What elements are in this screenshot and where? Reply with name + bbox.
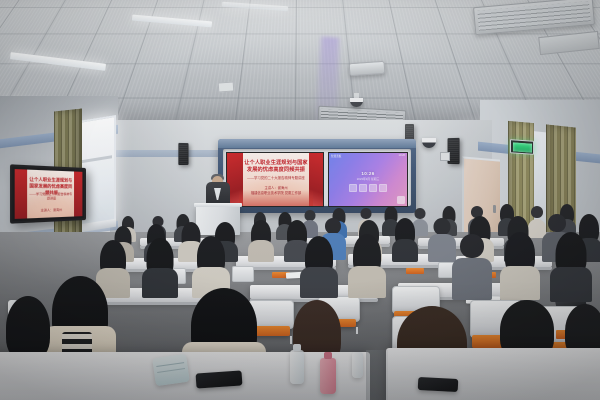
settings-icon[interactable] [397,196,405,204]
smart-board-dock[interactable] [349,184,387,192]
smart-board-status-left: 智慧黑板 [331,154,341,158]
whiteboard-icon[interactable] [349,184,357,192]
emergency-exit-sign-icon [510,139,534,155]
audience-person [142,238,178,298]
smart-board-status-bar: 智慧黑板 10:26 [329,153,407,158]
audience-person [392,218,418,262]
smartphone[interactable] [196,370,243,388]
water-bottle[interactable] [290,350,304,384]
face-mask[interactable] [152,354,190,386]
apps-icon[interactable] [379,184,387,192]
audience-person [452,234,492,300]
water-bottle[interactable] [352,352,363,378]
smart-board-screen[interactable]: 智慧黑板 10:26 10:26 2023年3月 星期三 [328,152,408,207]
slide-flag-left [15,169,27,219]
display-bank-frame: 让个人职业生涯规划与国家发展的忧虑高度同频共振 ——学习党的二十大报告精神专题讲… [218,139,416,213]
chair-back[interactable] [232,266,254,282]
smart-board-status-right: 10:26 [399,154,406,157]
wall-accent-stripe [110,150,220,157]
audience-person [248,220,274,262]
frame-top-accent [218,139,416,148]
door-handle[interactable] [493,205,496,213]
water-bottle[interactable] [320,358,336,394]
audience-person [500,232,540,300]
wall-speaker-icon [405,124,414,140]
wall-mounted-monitor[interactable]: 让个人职业生涯规划与国家发展的忧虑高度同频共振 ——学习党的二十大报告精神专题讲… [10,164,86,223]
slide-affiliation: 福建信息职业技术学院 党委工作部 [244,191,308,196]
table-seam [366,350,388,400]
chair-seat[interactable] [406,268,424,274]
browser-icon[interactable] [359,184,367,192]
slide-subtitle: ——学习党的二十大报告精神专题讲座 [244,176,308,181]
wall-speaker-left-icon [178,143,188,165]
slide-title: 让个人职业生涯规划与国家发展的忧虑高度同频共振 [244,160,308,174]
smart-board-date: 2023年3月 星期三 [329,177,407,181]
smartphone[interactable] [418,377,459,392]
files-icon[interactable] [369,184,377,192]
projector-icon [349,61,386,76]
smoke-sensor-icon [218,81,235,92]
side-tv-subtitle: ——学习党的二十大报告精神专题讲座 [28,192,73,202]
side-tv-meta: 主讲人：谢海州 [28,207,73,213]
classroom-photo: 让个人职业生涯规划与国家发展的忧虑高度同频共振 ——学习党的二十大报告精神专题讲… [0,0,600,400]
audience-person [550,232,592,302]
foreground-table [386,348,600,400]
audience-person [348,234,386,298]
smart-board-clock: 10:26 [329,171,407,176]
slide-flag-right [74,172,82,217]
lectern-top [194,203,242,207]
audience-person [300,236,338,298]
presentation-screen[interactable]: 让个人职业生涯规划与国家发展的忧虑高度同频共振 ——学习党的二十大报告精神专题讲… [226,152,324,207]
wall-camera-icon [440,152,450,161]
